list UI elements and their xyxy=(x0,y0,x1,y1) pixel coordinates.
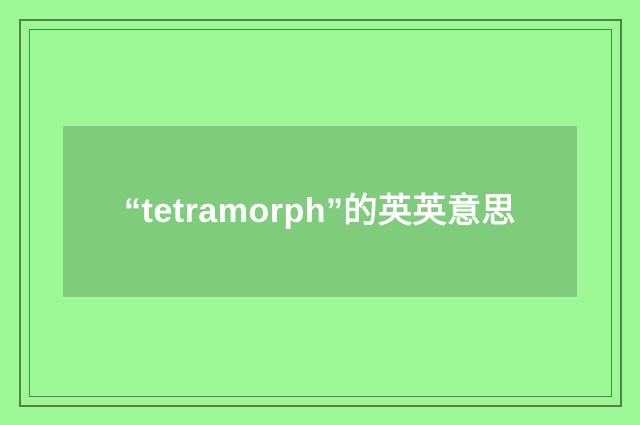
page-title: “tetramorph”的英英意思 xyxy=(63,183,577,240)
title-banner-card: “tetramorph”的英英意思 xyxy=(63,126,577,297)
page-canvas: “tetramorph”的英英意思 xyxy=(0,0,640,425)
